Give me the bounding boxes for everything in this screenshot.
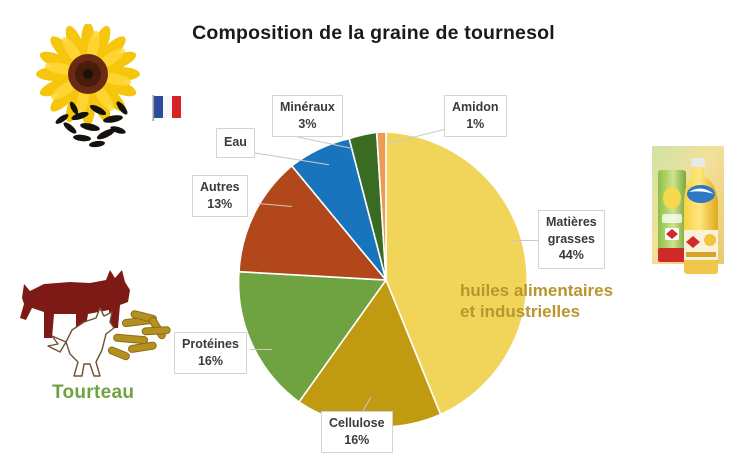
label-cellulose: Cellulose 16% <box>321 411 393 453</box>
leader-line-matieres <box>510 240 540 241</box>
french-flag-icon <box>148 88 188 128</box>
label-matieres-grasses: Matières grasses 44% <box>538 210 605 269</box>
label-mineraux-value: 3% <box>280 116 335 133</box>
annotation-tourteau: Tourteau <box>52 382 134 404</box>
label-cellulose-name: Cellulose <box>329 416 385 430</box>
label-mineraux-name: Minéraux <box>280 100 335 114</box>
sunflower-seeds <box>54 100 129 148</box>
label-eau-name: Eau <box>224 135 247 149</box>
label-matieres-name1: Matières <box>546 215 597 229</box>
annotation-oil-usage: huiles alimentaires et industrielles <box>460 281 705 322</box>
label-matieres-value: 44% <box>546 247 597 264</box>
label-autres: Autres 13% <box>192 175 248 217</box>
label-proteines: Protéines 16% <box>174 332 247 374</box>
label-autres-value: 13% <box>200 196 240 213</box>
label-matieres-name2: grasses <box>546 231 597 248</box>
sunflower-image <box>18 24 158 154</box>
oil-product-image <box>648 136 740 284</box>
label-proteines-name: Protéines <box>182 337 239 351</box>
label-mineraux: Minéraux 3% <box>272 95 343 137</box>
pie-chart <box>236 130 536 430</box>
oil-carton <box>658 170 686 262</box>
label-eau: Eau <box>216 128 255 158</box>
slide-canvas: Composition de la graine de tournesol <box>0 0 747 469</box>
label-proteines-value: 16% <box>182 353 239 370</box>
annotation-oil-line2: et industrielles <box>460 302 580 321</box>
label-cellulose-value: 16% <box>329 432 385 449</box>
label-amidon: Amidon 1% <box>444 95 507 137</box>
leader-line-proteines <box>250 349 272 350</box>
livestock-image <box>14 258 199 386</box>
label-amidon-name: Amidon <box>452 100 499 114</box>
annotation-oil-line1: huiles alimentaires <box>460 281 613 300</box>
label-autres-name: Autres <box>200 180 240 194</box>
label-amidon-value: 1% <box>452 116 499 133</box>
